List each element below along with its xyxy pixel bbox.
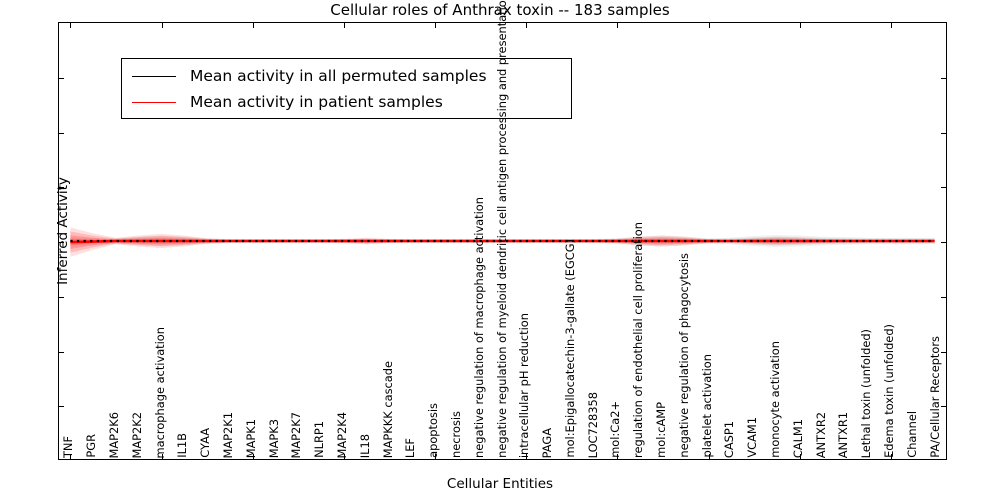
y-tick (941, 297, 946, 298)
y-tick (941, 352, 946, 353)
legend-item: Mean activity in all permuted samples (122, 63, 571, 89)
chart-figure: Cellular roles of Anthrax toxin -- 183 s… (0, 0, 1000, 500)
x-tick (435, 454, 436, 459)
legend-line-swatch-permuted (132, 76, 176, 77)
x-tick (526, 454, 527, 459)
x-tick (617, 23, 618, 28)
legend-label-permuted: Mean activity in all permuted samples (190, 67, 487, 85)
plot-area: Inferred Activity Mean activity in all p… (58, 22, 947, 460)
x-tick (709, 23, 710, 28)
x-tick (800, 454, 801, 459)
x-tick (800, 23, 801, 28)
legend-label-patient: Mean activity in patient samples (190, 93, 443, 111)
x-tick (253, 23, 254, 28)
x-axis-label: Cellular Entities (0, 476, 1000, 492)
x-tick (435, 23, 436, 28)
x-tick (162, 454, 163, 459)
x-tick (344, 23, 345, 28)
y-tick (941, 242, 946, 243)
x-tick (344, 454, 345, 459)
y-tick (941, 133, 946, 134)
y-tick (941, 78, 946, 79)
chart-title: Cellular roles of Anthrax toxin -- 183 s… (0, 1, 1000, 19)
x-tick (526, 23, 527, 28)
x-tick (162, 23, 163, 28)
x-tick (709, 454, 710, 459)
chart-legend: Mean activity in all permuted samples Me… (121, 58, 572, 119)
x-tick (253, 454, 254, 459)
x-tick (891, 454, 892, 459)
x-tick (617, 454, 618, 459)
legend-item: Mean activity in patient samples (122, 89, 571, 115)
y-tick (941, 406, 946, 407)
x-tick (891, 23, 892, 28)
y-axis-label: Inferred Activity (55, 0, 71, 471)
y-tick (941, 187, 946, 188)
legend-line-swatch-patient (132, 102, 176, 103)
